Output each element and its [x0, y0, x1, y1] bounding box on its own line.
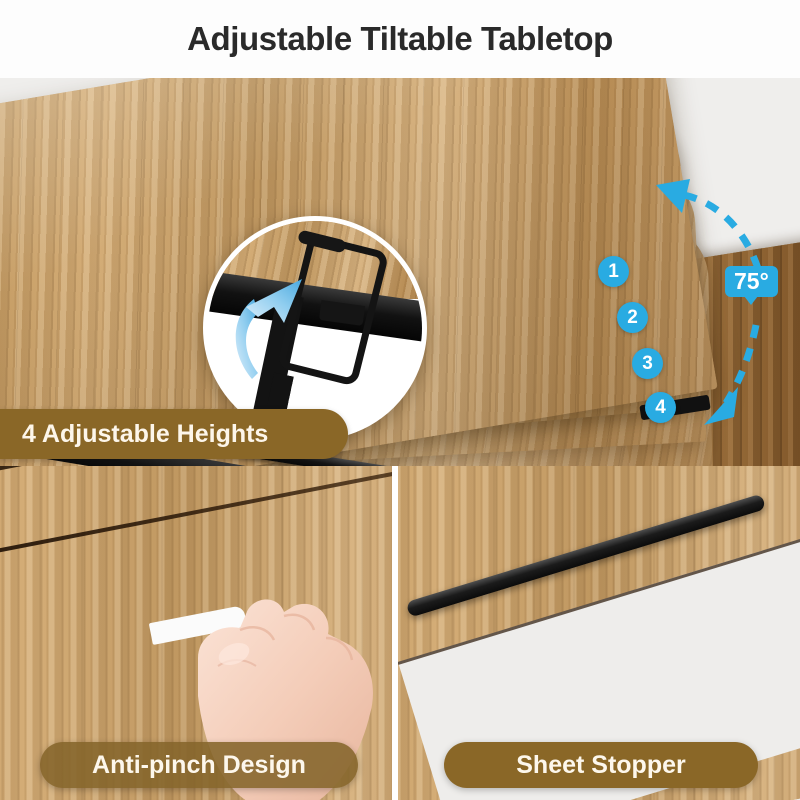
product-infographic: Adjustable Tiltable Tabletop [0, 0, 800, 800]
header-bar: Adjustable Tiltable Tabletop [0, 0, 800, 78]
pill-sheet-stopper-label: Sheet Stopper [516, 751, 685, 780]
support-bracket-detail-circle [203, 216, 427, 440]
position-badge-3: 3 [632, 348, 663, 379]
lift-direction-arrow [224, 273, 308, 381]
position-badge-2: 2 [617, 302, 648, 333]
position-badge-1: 1 [598, 256, 629, 287]
tilt-range-arrows [650, 173, 800, 433]
banner-adjustable-heights: 4 Adjustable Heights [0, 409, 348, 459]
banner-adjustable-heights-label: 4 Adjustable Heights [0, 420, 268, 449]
tilt-angle-badge: 75° [725, 266, 778, 297]
page-title: Adjustable Tiltable Tabletop [187, 20, 613, 58]
pill-sheet-stopper: Sheet Stopper [444, 742, 758, 788]
hero-section: 1 2 3 4 75° [0, 78, 800, 466]
pill-anti-pinch-design-label: Anti-pinch Design [92, 751, 306, 780]
pill-anti-pinch-design: Anti-pinch Design [40, 742, 358, 788]
position-badge-4: 4 [645, 392, 676, 423]
